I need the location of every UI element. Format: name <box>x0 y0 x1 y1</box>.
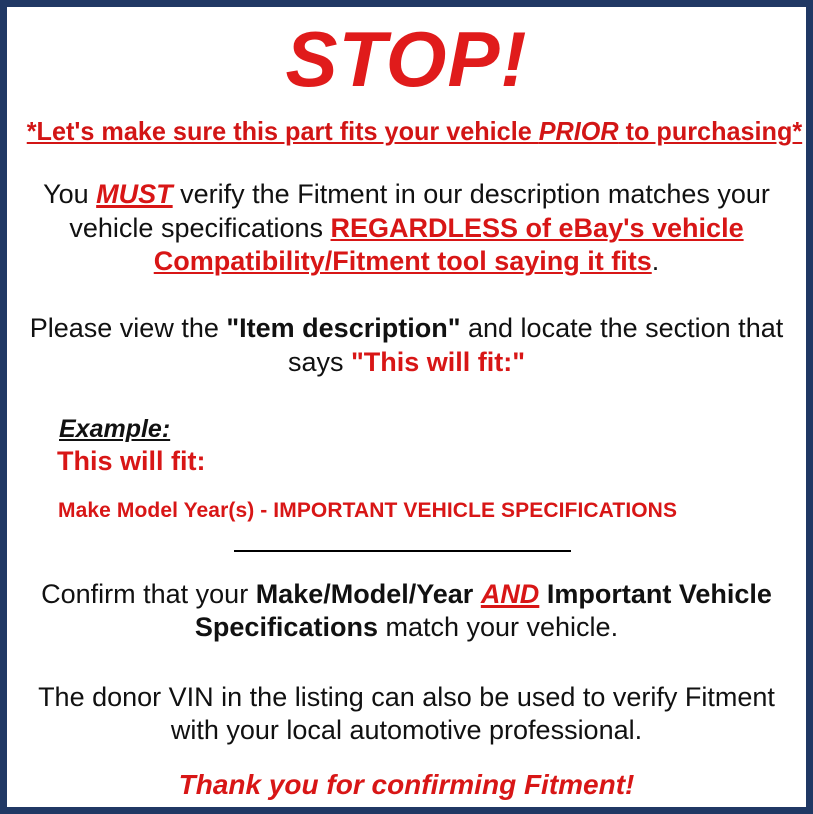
paragraph-must-verify: You MUST verify the Fitment in our descr… <box>15 178 798 278</box>
subtitle-emphasis-prior: PRIOR <box>539 116 619 146</box>
subtitle-banner: *Let's make sure this part fits your veh… <box>27 117 787 146</box>
example-fit-specification: Make Model Year(s) - IMPORTANT VEHICLE S… <box>58 499 798 523</box>
subtitle-suffix: to purchasing* <box>619 116 803 146</box>
fitment-notice-card: STOP! *Let's make sure this part fits yo… <box>0 0 813 814</box>
this-will-fit-quote: "This will fit:" <box>351 347 525 377</box>
must-para-segment-3: . <box>652 246 660 276</box>
description-para-segment-1: Please view the <box>30 313 227 343</box>
notice-content-area: STOP! *Let's make sure this part fits yo… <box>7 7 806 807</box>
paragraph-donor-vin: The donor VIN in the listing can also be… <box>15 681 798 748</box>
make-model-year-label: Make/Model/Year <box>256 579 474 609</box>
section-divider <box>234 550 571 552</box>
page-title: STOP! <box>15 7 798 97</box>
closing-thank-you: Thank you for confirming Fitment! <box>15 769 798 801</box>
confirm-para-segment-2: match your vehicle. <box>378 612 618 642</box>
example-label: Example: <box>59 415 170 444</box>
example-block: Example: This will fit: Make Model Year(… <box>15 415 798 523</box>
subtitle-prefix: *Let's make sure this part fits your veh… <box>27 116 539 146</box>
and-keyword: AND <box>481 579 540 609</box>
section-divider-wrapper <box>15 548 798 552</box>
paragraph-confirm-match: Confirm that your Make/Model/Year AND Im… <box>15 578 798 645</box>
must-para-segment-1: You <box>43 179 96 209</box>
must-keyword: MUST <box>96 179 173 209</box>
example-fit-heading: This will fit: <box>57 446 798 477</box>
item-description-label: "Item description" <box>226 313 460 343</box>
paragraph-view-description: Please view the "Item description" and l… <box>15 312 798 379</box>
confirm-para-segment-1: Confirm that your <box>41 579 256 609</box>
